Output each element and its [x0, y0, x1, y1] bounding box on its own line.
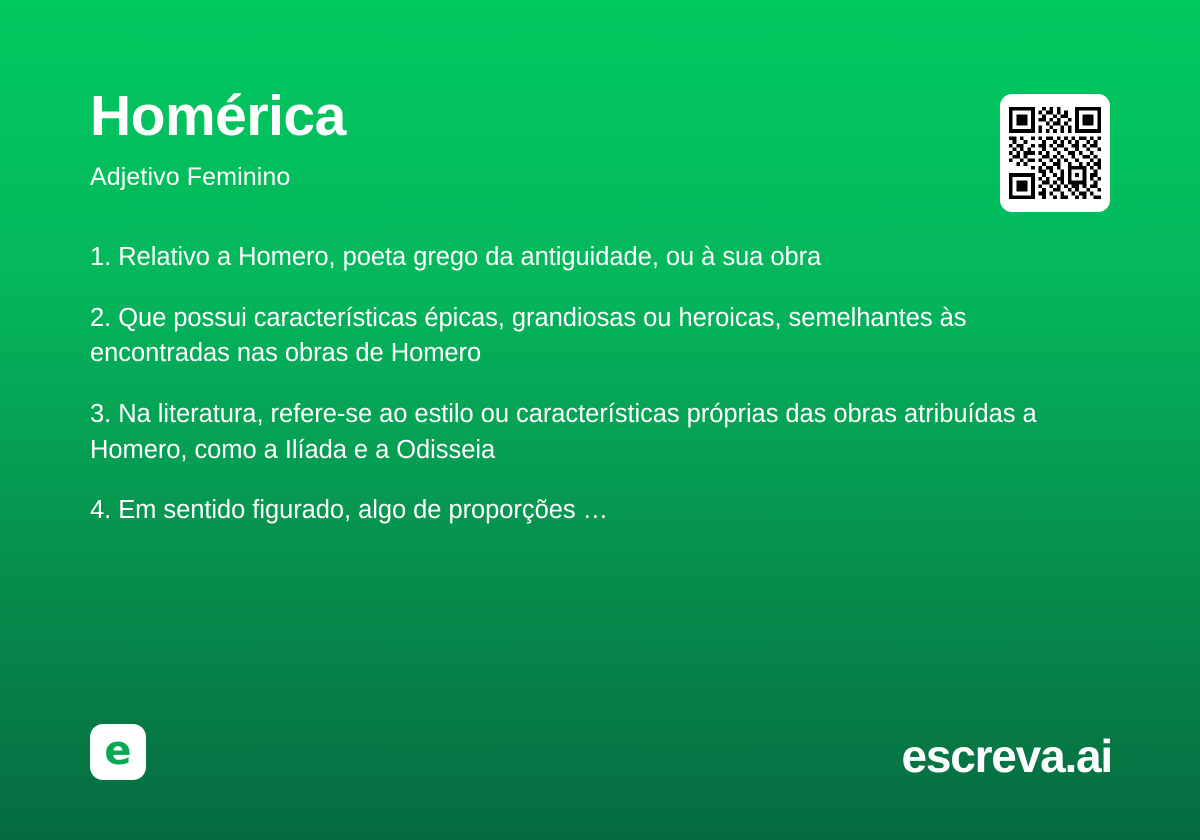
list-item: 1. Relativo a Homero, poeta grego da ant…	[90, 240, 1100, 276]
list-item: 4. Em sentido figurado, algo de proporçõ…	[90, 493, 1100, 529]
logo-letter: e	[104, 731, 131, 771]
part-of-speech-label: Adjetivo Feminino	[90, 163, 1110, 192]
brand-wordmark: escreva.ai	[901, 729, 1112, 783]
card-content: Homérica Adjetivo Feminino 1. Relativo a…	[90, 88, 1110, 529]
page-title: Homérica	[90, 88, 1110, 145]
escreva-logo-icon[interactable]: e	[90, 724, 146, 780]
qr-code-icon	[1009, 107, 1101, 199]
qr-code-container[interactable]	[1000, 94, 1110, 212]
dictionary-card: Homérica Adjetivo Feminino 1. Relativo a…	[0, 0, 1200, 840]
list-item: 2. Que possui características épicas, gr…	[90, 301, 1100, 372]
list-item: 3. Na literatura, refere-se ao estilo ou…	[90, 397, 1100, 468]
definition-list: 1. Relativo a Homero, poeta grego da ant…	[90, 240, 1100, 529]
